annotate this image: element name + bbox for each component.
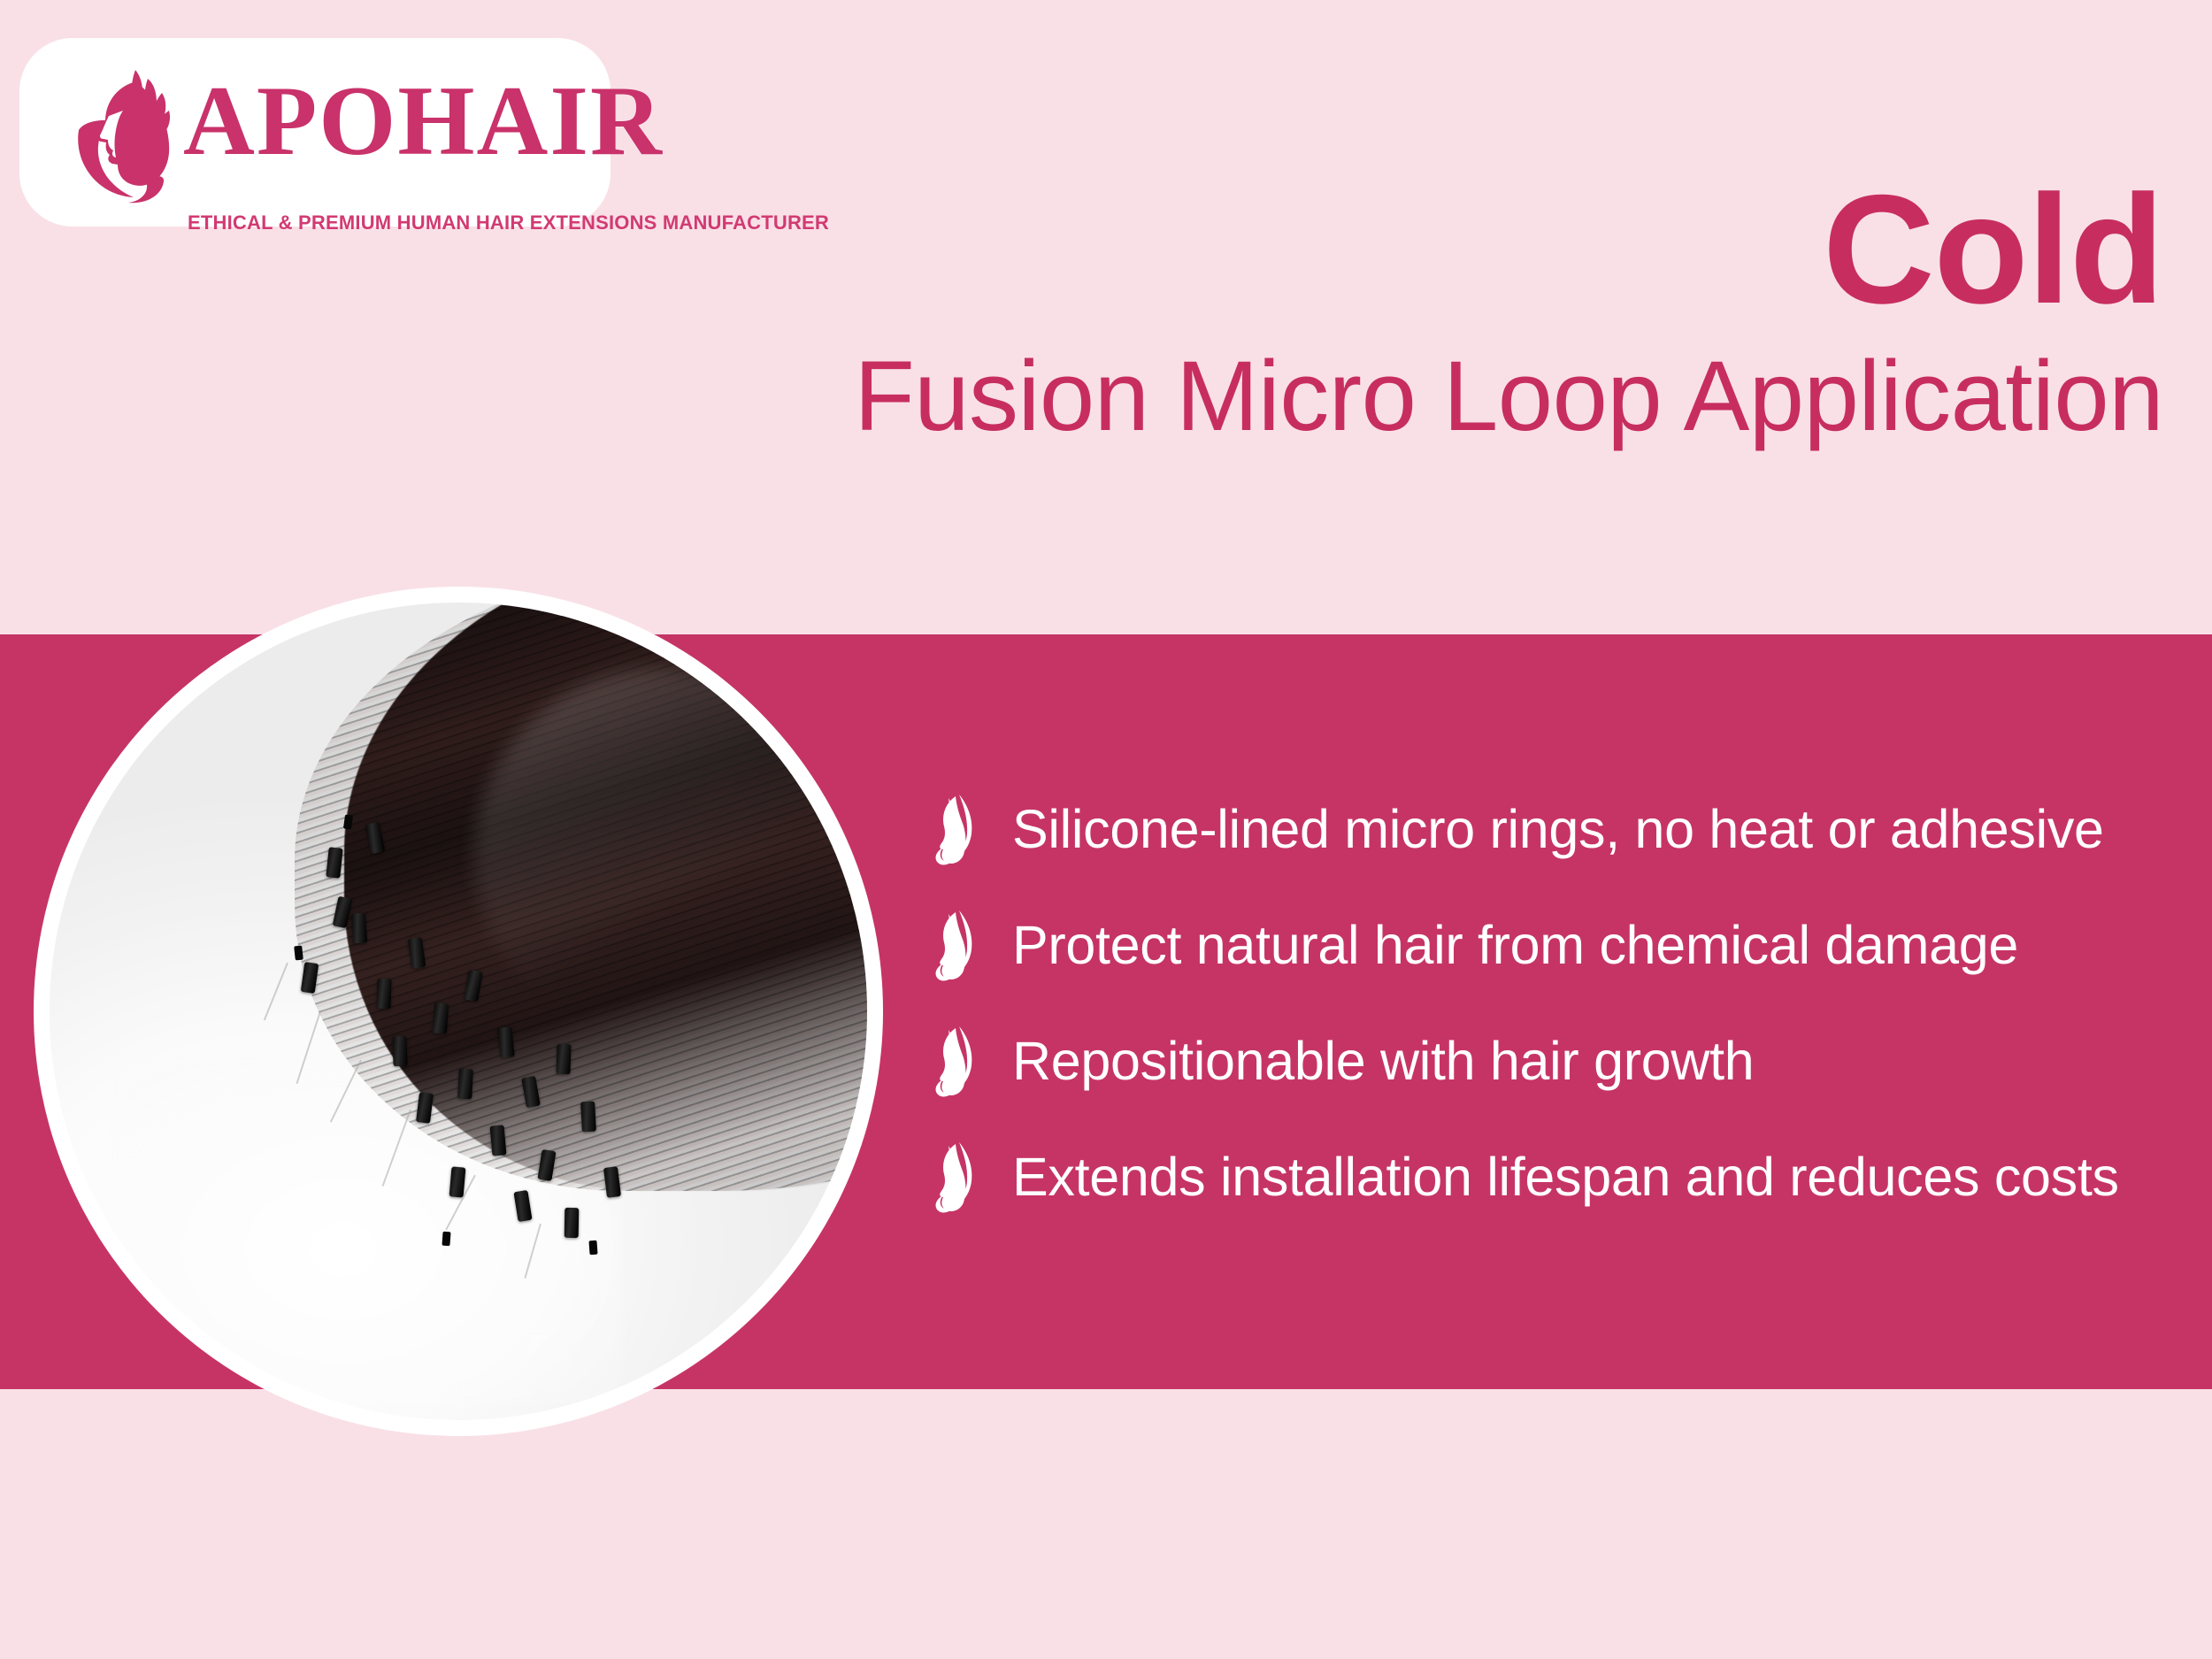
brand-name: APOHAIR [183,72,664,171]
title-line-2: Fusion Micro Loop Application [571,340,2163,454]
woman-silhouette-icon [929,909,979,983]
brand-logo-card: APOHAIR ETHICAL & PREMIUM HUMAN HAIR EXT… [19,38,611,227]
woman-silhouette-icon [929,1141,979,1215]
micro-loop-rings-group [50,603,867,1420]
feature-list: Silicone-lined micro rings, no heat or a… [929,787,2203,1220]
list-item: Silicone-lined micro rings, no heat or a… [929,787,2203,872]
woman-silhouette-icon [929,793,979,867]
woman-with-flowing-hair-icon [59,65,192,206]
product-photo [50,603,867,1420]
list-item: Repositionable with hair growth [929,1019,2203,1104]
list-item: Extends installation lifespan and reduce… [929,1135,2203,1220]
list-item-label: Silicone-lined micro rings, no heat or a… [1012,800,2104,859]
list-item-label: Protect natural hair from chemical damag… [1012,916,2018,975]
list-item-label: Extends installation lifespan and reduce… [1012,1148,2119,1207]
page-title: Cold Fusion Micro Loop Application [571,177,2163,454]
title-line-1: Cold [571,177,2163,324]
woman-silhouette-icon [929,1025,979,1099]
list-item-label: Repositionable with hair growth [1012,1032,1754,1091]
product-image-circle [34,587,883,1436]
list-item: Protect natural hair from chemical damag… [929,903,2203,988]
